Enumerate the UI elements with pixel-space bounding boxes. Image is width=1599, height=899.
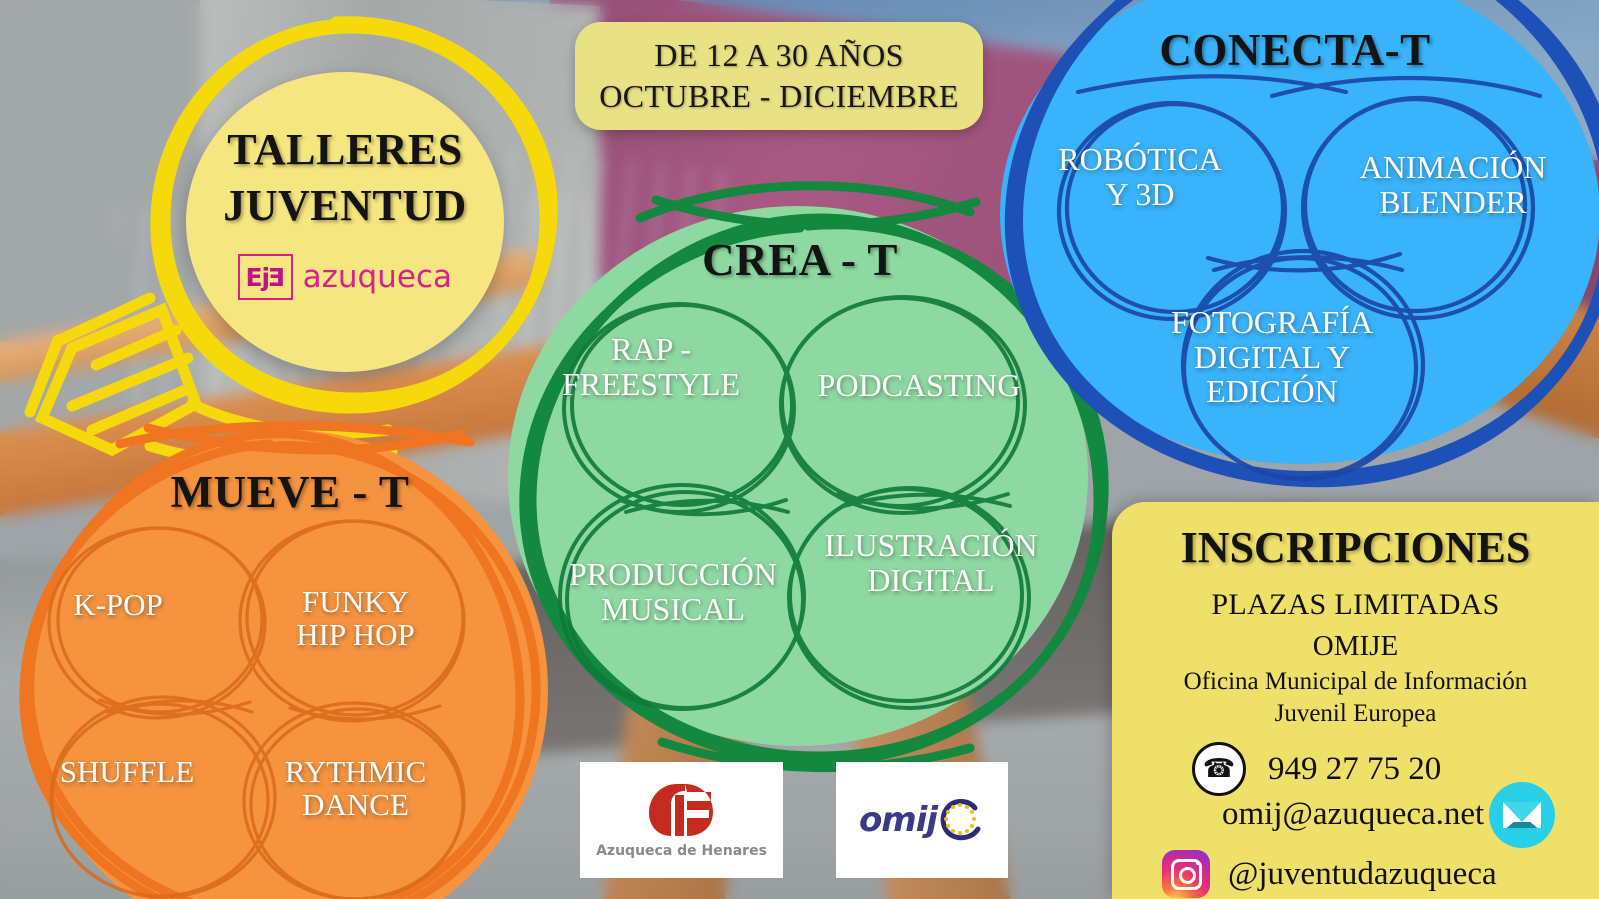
crea-item-rap-line2: FREESTYLE <box>552 367 750 402</box>
conecta-item-animacion-line1: ANIMACIÓN <box>1338 150 1568 185</box>
poster-canvas: TALLERES JUVENTUD EjE azuqueca DE 12 A 3… <box>0 0 1599 899</box>
mueve-item-funky-line1: FUNKY <box>248 585 463 618</box>
eje-mark: EjE <box>238 254 293 300</box>
omije-acronym: OMIJE <box>1112 630 1599 663</box>
omij-logo: omij <box>836 762 1008 878</box>
eu-e-icon <box>935 795 985 845</box>
crea-item-rap: RAP - FREESTYLE <box>552 332 750 401</box>
eje-letter-e1: E <box>245 263 261 292</box>
mueve-item-shuffle: SHUFFLE <box>32 755 222 788</box>
crea-item-produccion-line2: MUSICAL <box>548 592 798 627</box>
conecta-item-fotografia-line1: FOTOGRAFÍA <box>1148 305 1396 340</box>
omije-name-line1: Oficina Municipal de Información <box>1112 668 1599 696</box>
bulb-title: TALLERES JUVENTUD <box>186 122 504 235</box>
crea-item-rap-line1: RAP - <box>552 332 750 367</box>
inscripciones-title: INSCRIPCIONES <box>1112 522 1599 573</box>
conecta-item-fotografia-line2: DIGITAL Y <box>1148 340 1396 375</box>
instagram-handle: @juventudazuqueca <box>1228 856 1497 893</box>
age-range-text: DE 12 A 30 AÑOS <box>654 35 904 76</box>
conecta-t-sketch-outline <box>960 0 1599 520</box>
conecta-item-animacion-line2: BLENDER <box>1338 185 1568 220</box>
phone-contact[interactable]: ☎ 949 27 75 20 <box>1192 742 1441 796</box>
mueve-item-funky: FUNKY HIP HOP <box>248 585 463 652</box>
plazas-limitadas-text: PLAZAS LIMITADAS <box>1112 588 1599 622</box>
conecta-item-robotica: ROBÓTICA Y 3D <box>1040 142 1240 211</box>
conecta-item-robotica-line1: ROBÓTICA <box>1040 142 1240 177</box>
azuqueca-logo-caption: Azuqueca de Henares <box>596 843 767 859</box>
omij-wordmark: omij <box>859 800 937 840</box>
date-range-badge: DE 12 A 30 AÑOS OCTUBRE - DICIEMBRE <box>575 22 983 130</box>
crea-item-ilustracion-line1: ILUSTRACIÓN <box>812 528 1050 563</box>
mueve-item-rythmic-line1: RYTHMIC <box>248 755 463 788</box>
azuqueca-logo-mark <box>647 782 717 838</box>
eje-letter-j: j <box>262 263 270 292</box>
email-address: omij@azuqueca.net <box>1222 796 1484 833</box>
email-icon[interactable] <box>1489 782 1555 848</box>
bulb-title-line2: JUVENTUD <box>186 178 504 234</box>
conecta-item-fotografia-line3: EDICIÓN <box>1148 374 1396 409</box>
conecta-item-robotica-line2: Y 3D <box>1040 177 1240 212</box>
crea-item-produccion-line1: PRODUCCIÓN <box>548 557 798 592</box>
eje-azuqueca-logo: EjE azuqueca <box>238 255 452 299</box>
email-contact[interactable]: omij@azuqueca.net <box>1222 796 1484 833</box>
phone-number: 949 27 75 20 <box>1268 751 1441 788</box>
phone-icon: ☎ <box>1192 742 1246 796</box>
eje-letter-e2: E <box>269 263 285 292</box>
instagram-icon <box>1162 850 1210 898</box>
crea-item-ilustracion-line2: DIGITAL <box>812 563 1050 598</box>
azuqueca-de-henares-logo: Azuqueca de Henares <box>580 762 783 878</box>
mueve-t-title: MUEVE - T <box>40 466 540 518</box>
omij-logo-text: omij <box>859 795 985 845</box>
conecta-t-title: CONECTA-T <box>1000 24 1590 76</box>
bulb-title-line1: TALLERES <box>186 122 504 178</box>
crea-item-produccion: PRODUCCIÓN MUSICAL <box>548 557 798 626</box>
instagram-contact[interactable]: @juventudazuqueca <box>1162 850 1497 898</box>
eje-wordmark: azuqueca <box>303 259 452 295</box>
crea-item-ilustracion: ILUSTRACIÓN DIGITAL <box>812 528 1050 597</box>
mueve-item-kpop: K-POP <box>28 588 208 621</box>
conecta-item-animacion: ANIMACIÓN BLENDER <box>1338 150 1568 219</box>
mueve-item-funky-line2: HIP HOP <box>248 618 463 651</box>
mueve-item-rythmic: RYTHMIC DANCE <box>248 755 463 822</box>
conecta-item-fotografia: FOTOGRAFÍA DIGITAL Y EDICIÓN <box>1148 305 1396 409</box>
mueve-item-rythmic-line2: DANCE <box>248 788 463 821</box>
omije-name-line2: Juvenil Europea <box>1112 700 1599 728</box>
month-range-text: OCTUBRE - DICIEMBRE <box>599 76 959 117</box>
